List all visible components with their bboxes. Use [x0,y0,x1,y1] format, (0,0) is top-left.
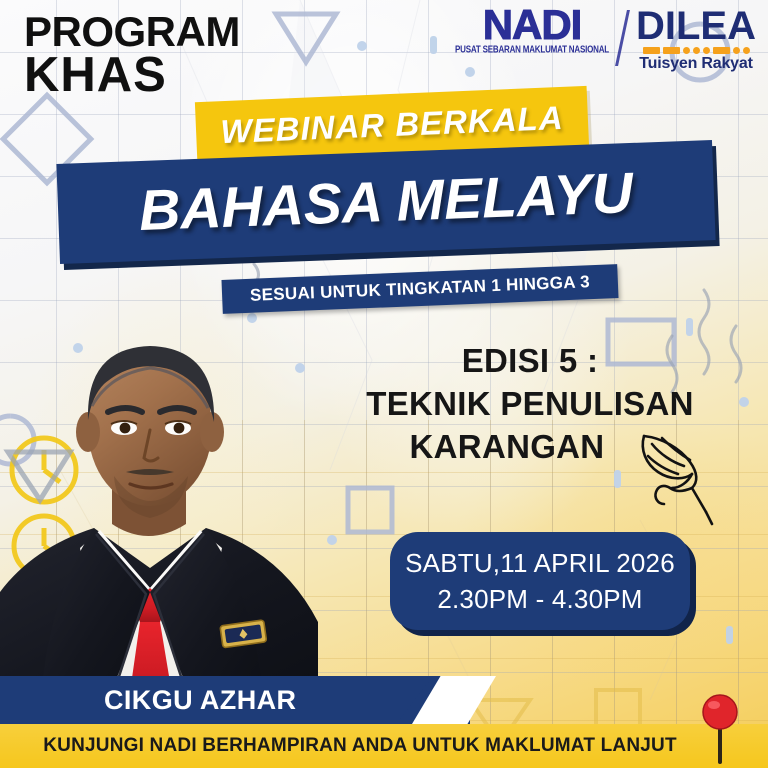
edition-line-1: EDISI 5 : [320,340,740,383]
level-subtitle-text: SESUAI UNTUK TINGKATAN 1 HINGGA 3 [250,272,591,306]
level-subtitle-bar: SESUAI UNTUK TINGKATAN 1 HINGGA 3 [221,264,618,314]
speaker-portrait [0,336,334,706]
speaker-name-text: CIKGU AZHAR [104,685,296,716]
logo-group: NADI PUSAT SEBARAN MAKLUMAT NASIONAL DIL… [455,6,756,73]
map-pin-icon [700,692,740,764]
footer-cta-text: KUNJUNGI NADI BERHAMPIRAN ANDA UNTUK MAK… [43,735,725,757]
edition-line-3: KARANGAN [320,426,740,469]
time-text: 2.30PM - 4.30PM [437,584,642,615]
date-text: SABTU,11 APRIL 2026 [405,548,675,579]
nadi-logo: NADI PUSAT SEBARAN MAKLUMAT NASIONAL [455,6,609,54]
program-headline-line2: KHAS [24,52,240,99]
dilea-logo: DILEA Tuisyen Rakyat [636,6,756,73]
nadi-logo-wordmark: NADI [455,6,609,44]
webinar-banner-text: WEBINAR BERKALA [220,99,564,151]
dilea-logo-dashes [636,47,756,54]
subject-banner-text: BAHASA MELAYU [138,160,634,244]
logo-divider [615,10,630,66]
dilea-logo-tagline: Tuisyen Rakyat [636,55,756,73]
program-headline-line1: PROGRAM [24,12,240,52]
nadi-logo-tagline: PUSAT SEBARAN MAKLUMAT NASIONAL [455,44,609,55]
date-time-pill: SABTU,11 APRIL 2026 2.30PM - 4.30PM [390,532,690,630]
dilea-logo-wordmark: DILEA [636,8,756,45]
edition-title-block: EDISI 5 : TEKNIK PENULISAN KARANGAN [320,340,740,469]
footer-cta-bar: KUNJUNGI NADI BERHAMPIRAN ANDA UNTUK MAK… [0,724,768,768]
program-headline: PROGRAM KHAS [24,12,240,99]
poster-canvas: PROGRAM KHAS NADI PUSAT SEBARAN MAKLUMAT… [0,0,768,768]
edition-line-2: TEKNIK PENULISAN [320,383,740,426]
